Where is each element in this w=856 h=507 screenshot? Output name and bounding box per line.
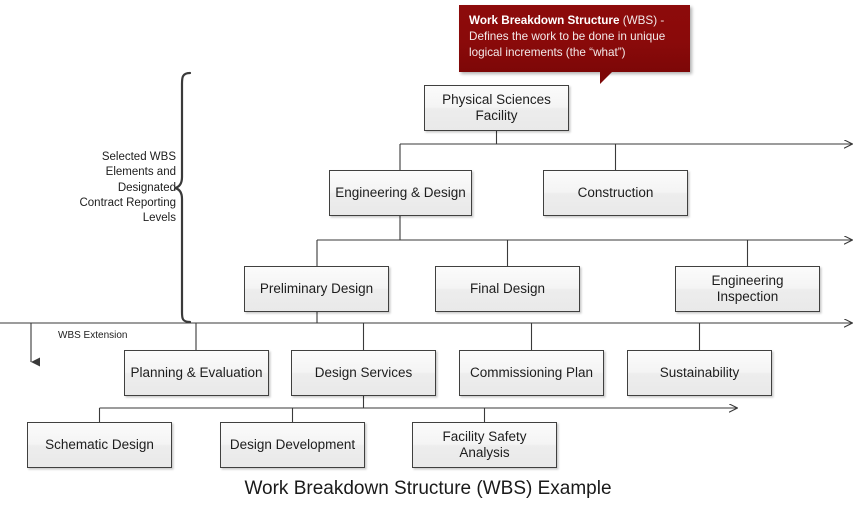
wbs-node-engineering-inspection[interactable]: Engineering Inspection [675, 266, 820, 312]
callout-tail-icon [600, 71, 613, 84]
wbs-node-physical-sciences-facility[interactable]: Physical Sciences Facility [424, 85, 569, 131]
wbs-node-design-services[interactable]: Design Services [291, 350, 436, 396]
wbs-node-sustainability[interactable]: Sustainability [627, 350, 772, 396]
reporting-levels-brace [175, 73, 190, 322]
wbs-node-facility-safety-analysis[interactable]: Facility Safety Analysis [412, 422, 557, 468]
callout-term: Work Breakdown Structure [469, 14, 619, 27]
wbs-node-preliminary-design[interactable]: Preliminary Design [244, 266, 389, 312]
wbs-extension-label: WBS Extension [58, 329, 127, 342]
wbs-node-final-design[interactable]: Final Design [435, 266, 580, 312]
wbs-node-design-development[interactable]: Design Development [220, 422, 365, 468]
wbs-definition-callout: Work Breakdown Structure (WBS) - Defines… [459, 5, 690, 72]
wbs-node-construction[interactable]: Construction [543, 170, 688, 216]
selected-wbs-elements-label: Selected WBS Elements and Designated Con… [72, 150, 176, 226]
wbs-node-commissioning-plan[interactable]: Commissioning Plan [459, 350, 604, 396]
wbs-diagram-canvas: Work Breakdown Structure (WBS) - Defines… [0, 0, 856, 507]
diagram-title: Work Breakdown Structure (WBS) Example [0, 478, 856, 500]
wbs-node-schematic-design[interactable]: Schematic Design [27, 422, 172, 468]
wbs-node-planning-evaluation[interactable]: Planning & Evaluation [124, 350, 269, 396]
wbs-node-engineering-design[interactable]: Engineering & Design [329, 170, 472, 216]
